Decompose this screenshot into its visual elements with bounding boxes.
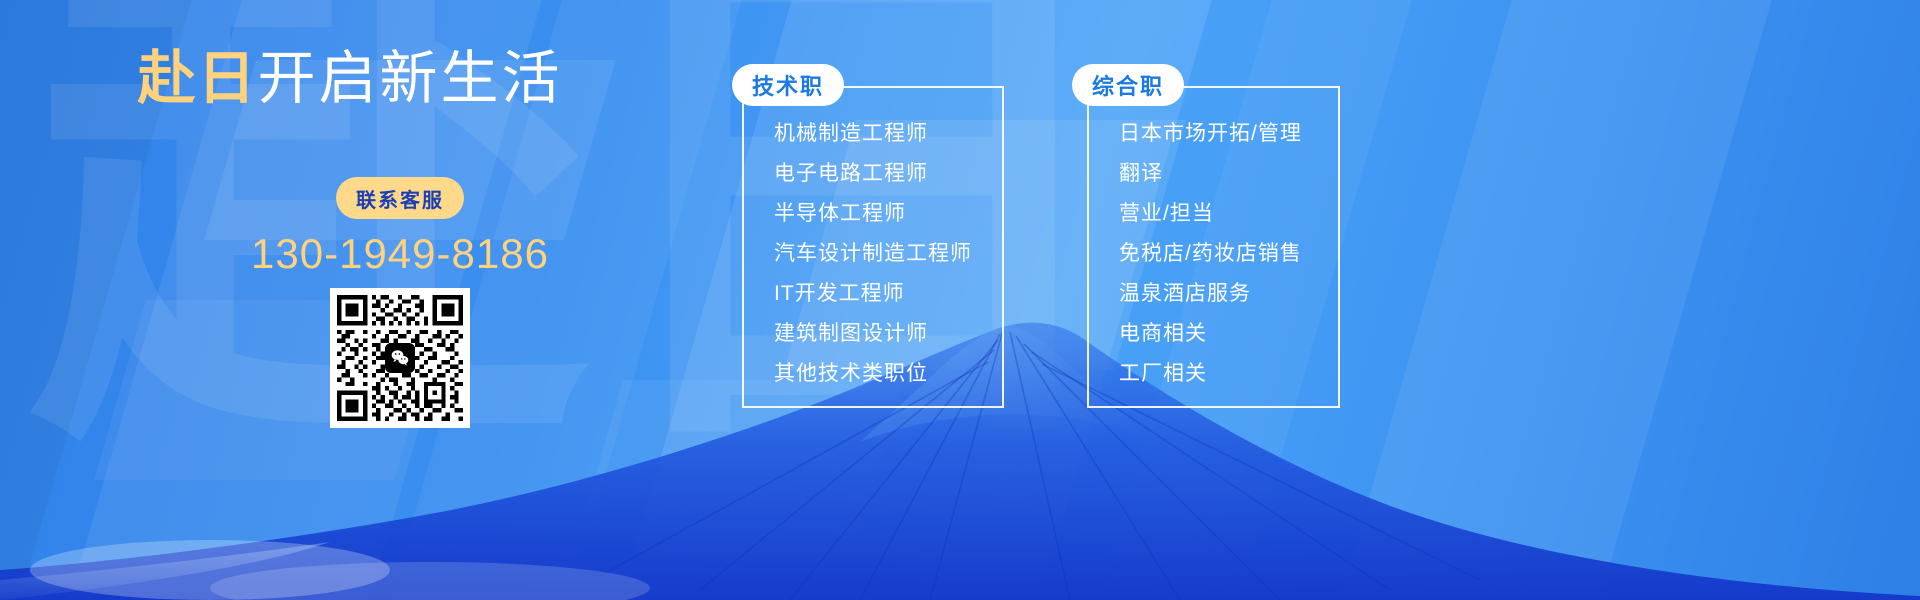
list-item[interactable]: 温泉酒店服务 [1119, 274, 1338, 314]
list-item[interactable]: 半导体工程师 [774, 194, 1002, 234]
job-column-technical: 技术职 机械制造工程师 电子电路工程师 半导体工程师 汽车设计制造工程师 IT开… [742, 88, 1004, 408]
qr-code[interactable] [330, 288, 470, 428]
list-item[interactable]: IT开发工程师 [774, 274, 1002, 314]
contact-support-button[interactable]: 联系客服 [336, 177, 464, 219]
job-column-box-technical: 机械制造工程师 电子电路工程师 半导体工程师 汽车设计制造工程师 IT开发工程师… [742, 88, 1004, 408]
job-column-general: 综合职 日本市场开拓/管理 翻译 营业/担当 免税店/药妆店销售 温泉酒店服务 … [1087, 88, 1340, 408]
list-item[interactable]: 建筑制图设计师 [774, 314, 1002, 354]
job-column-label-technical[interactable]: 技术职 [732, 64, 844, 106]
list-item[interactable]: 营业/担当 [1119, 194, 1338, 234]
list-item[interactable]: 其他技术类职位 [774, 354, 1002, 394]
headline-rest: 开启新生活 [258, 46, 563, 111]
list-item[interactable]: 电子电路工程师 [774, 154, 1002, 194]
list-item[interactable]: 免税店/药妆店销售 [1119, 234, 1338, 274]
job-column-box-general: 日本市场开拓/管理 翻译 营业/担当 免税店/药妆店销售 温泉酒店服务 电商相关… [1087, 88, 1340, 408]
job-column-label-general[interactable]: 综合职 [1072, 64, 1184, 106]
list-item[interactable]: 翻译 [1119, 154, 1338, 194]
list-item[interactable]: 工厂相关 [1119, 354, 1338, 394]
job-list-technical: 机械制造工程师 电子电路工程师 半导体工程师 汽车设计制造工程师 IT开发工程师… [744, 114, 1002, 394]
list-item[interactable]: 电商相关 [1119, 314, 1338, 354]
list-item[interactable]: 机械制造工程师 [774, 114, 1002, 154]
left-content-block: 赴日开启新生活 联系客服 130-1949-8186 [0, 0, 700, 600]
list-item[interactable]: 汽车设计制造工程师 [774, 234, 1002, 274]
qr-code-canvas [337, 295, 463, 421]
list-item[interactable]: 日本市场开拓/管理 [1119, 114, 1338, 154]
headline-accent: 赴日 [137, 46, 257, 111]
promo-banner: 赴日 [0, 0, 1920, 600]
phone-number: 130-1949-8186 [0, 230, 800, 278]
wechat-icon [385, 343, 415, 373]
page-title: 赴日开启新生活 [0, 46, 700, 113]
job-list-general: 日本市场开拓/管理 翻译 营业/担当 免税店/药妆店销售 温泉酒店服务 电商相关… [1089, 114, 1338, 394]
